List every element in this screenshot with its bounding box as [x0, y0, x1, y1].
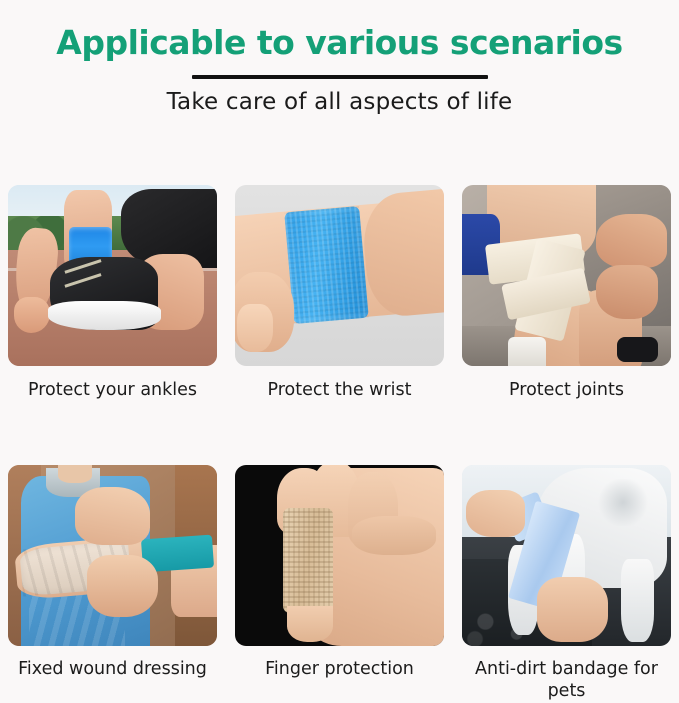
scenario-image-wound-dressing [8, 465, 217, 646]
scenario-caption: Protect your ankles [28, 380, 197, 402]
white-sock [508, 337, 546, 366]
dumbbell [617, 337, 659, 362]
groomer-hand-upper [466, 490, 525, 537]
page-title: Applicable to various scenarios [0, 26, 679, 59]
bandage-weave-texture [285, 205, 370, 323]
scenario-caption: Fixed wound dressing [18, 659, 207, 681]
scenario-image-joints [462, 185, 671, 366]
scenario-image-wrist [235, 185, 444, 366]
page-subtitle: Take care of all aspects of life [0, 90, 679, 115]
dog-rear-leg [621, 559, 654, 642]
scenario-card-wound-dressing: Fixed wound dressing [8, 402, 217, 703]
scenario-caption: Protect joints [509, 380, 624, 402]
scenario-image-ankles [8, 185, 217, 366]
finger-tip [287, 606, 333, 642]
knuckles [352, 516, 436, 556]
scenario-image-finger [235, 465, 444, 646]
groomer-hand-lower [537, 577, 608, 642]
finger-bandage-texture [283, 508, 333, 613]
scenario-card-finger: Finger protection [235, 402, 444, 703]
therapist-hand-upper [596, 214, 667, 268]
scenario-card-ankles: Protect your ankles [8, 185, 217, 402]
infographic-page: Applicable to various scenarios Take car… [0, 0, 679, 676]
nurse-hand-upper [75, 487, 150, 545]
scenario-grid: Protect your ankles Protect the wrist [8, 185, 671, 703]
scenario-caption: Protect the wrist [267, 380, 411, 402]
scenario-card-joints: Protect joints [462, 185, 671, 402]
divider-wrapper [0, 75, 679, 79]
scenario-caption: Anti-dirt bandage for pets [467, 659, 667, 703]
dog-fur-shading [596, 479, 650, 526]
scenario-card-pets: Anti-dirt bandage for pets [462, 402, 671, 703]
scenario-caption: Finger protection [265, 659, 414, 681]
nurse-hand-lower [87, 555, 158, 617]
scenario-image-pets [462, 465, 671, 646]
title-divider [192, 75, 488, 79]
shoe-sole [48, 301, 161, 330]
scenario-card-wrist: Protect the wrist [235, 185, 444, 402]
nurse-face [58, 465, 91, 483]
therapist-hand-lower [596, 265, 659, 319]
header: Applicable to various scenarios Take car… [0, 0, 679, 115]
fingers [237, 304, 273, 351]
